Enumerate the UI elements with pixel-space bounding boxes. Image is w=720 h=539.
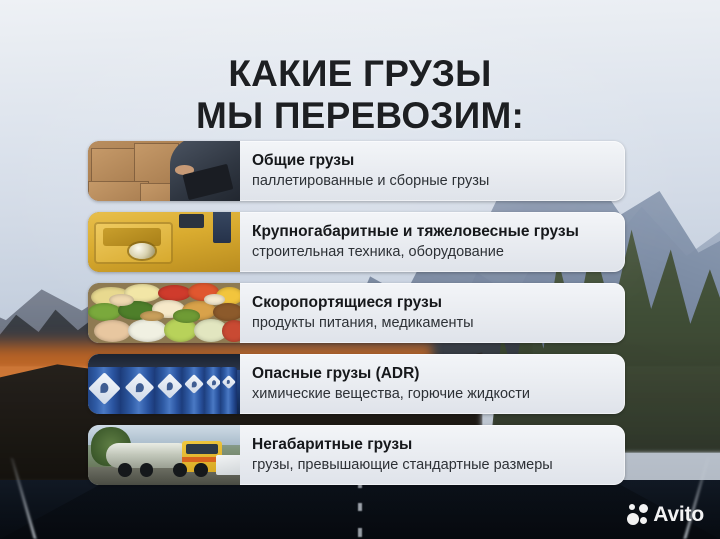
cargo-type-list: Общие грузы паллетированные и сборные гр…: [88, 141, 625, 485]
cargo-type-title: Негабаритные грузы: [252, 436, 613, 455]
cardboard-boxes-thumbnail: [88, 141, 240, 201]
list-item[interactable]: Крупногабаритные и тяжеловесные грузы ст…: [88, 212, 625, 272]
cargo-type-title: Общие грузы: [252, 152, 613, 171]
avito-brand-text: Avito: [653, 504, 704, 525]
cargo-type-title: Скоропортящиеся грузы: [252, 294, 613, 313]
oversized-load-trucks-thumbnail: [88, 425, 240, 485]
list-item[interactable]: Опасные грузы (ADR) химические вещества,…: [88, 354, 625, 414]
chemical-drums-thumbnail: [88, 354, 240, 414]
cargo-type-text: Скоропортящиеся грузы продукты питания, …: [240, 283, 625, 343]
cargo-type-title: Крупногабаритные и тяжеловесные грузы: [252, 223, 613, 242]
cargo-type-text: Крупногабаритные и тяжеловесные грузы ст…: [240, 212, 625, 272]
cargo-type-text: Негабаритные грузы грузы, превышающие ст…: [240, 425, 625, 485]
cargo-type-title: Опасные грузы (ADR): [252, 365, 613, 384]
page-title: КАКИЕ ГРУЗЫ МЫ ПЕРЕВОЗИМ:: [0, 53, 720, 137]
poster: КАКИЕ ГРУЗЫ МЫ ПЕРЕВОЗИМ: Общие грузы па…: [0, 0, 720, 539]
list-item[interactable]: Скоропортящиеся грузы продукты питания, …: [88, 283, 625, 343]
cargo-type-subtitle: паллетированные и сборные грузы: [252, 172, 613, 190]
construction-machine-thumbnail: [88, 212, 240, 272]
list-item[interactable]: Негабаритные грузы грузы, превышающие ст…: [88, 425, 625, 485]
page-title-line-1: КАКИЕ ГРУЗЫ: [0, 53, 720, 95]
page-title-line-2: МЫ ПЕРЕВОЗИМ:: [0, 95, 720, 137]
cargo-type-text: Опасные грузы (ADR) химические вещества,…: [240, 354, 625, 414]
cargo-type-text: Общие грузы паллетированные и сборные гр…: [240, 141, 625, 201]
list-item[interactable]: Общие грузы паллетированные и сборные гр…: [88, 141, 625, 201]
fresh-produce-thumbnail: [88, 283, 240, 343]
cargo-type-subtitle: продукты питания, медикаменты: [252, 314, 613, 332]
avito-watermark: Avito: [627, 504, 704, 525]
avito-dots-logo-icon: [627, 504, 648, 525]
cargo-type-subtitle: грузы, превышающие стандартные размеры: [252, 456, 613, 474]
cargo-type-subtitle: химические вещества, горючие жидкости: [252, 385, 613, 403]
cargo-type-subtitle: строительная техника, оборудование: [252, 243, 613, 261]
